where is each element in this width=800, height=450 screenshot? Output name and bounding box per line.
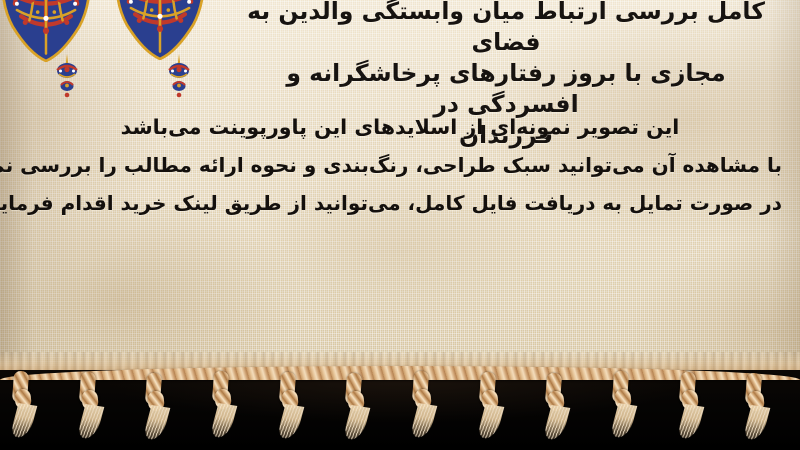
slide-body: این تصویر نمونه‌ای از اسلایدهای این پاور… xyxy=(18,108,782,222)
black-backdrop xyxy=(0,370,800,450)
slide-body-line-3: در صورت تمایل به دریافت فایل کامل، می‌تو… xyxy=(18,184,782,222)
slide-body-line-1: این تصویر نمونه‌ای از اسلایدهای این پاور… xyxy=(18,108,782,146)
slide-body-line-2: با مشاهده آن می‌توانید سبک طراحی، رنگ‌بن… xyxy=(18,146,782,184)
slide-canvas: کامل بررسی ارتباط میان وابستگی والدین به… xyxy=(0,0,800,450)
slide-title-line-1: کامل بررسی ارتباط میان وابستگی والدین به… xyxy=(247,0,765,56)
